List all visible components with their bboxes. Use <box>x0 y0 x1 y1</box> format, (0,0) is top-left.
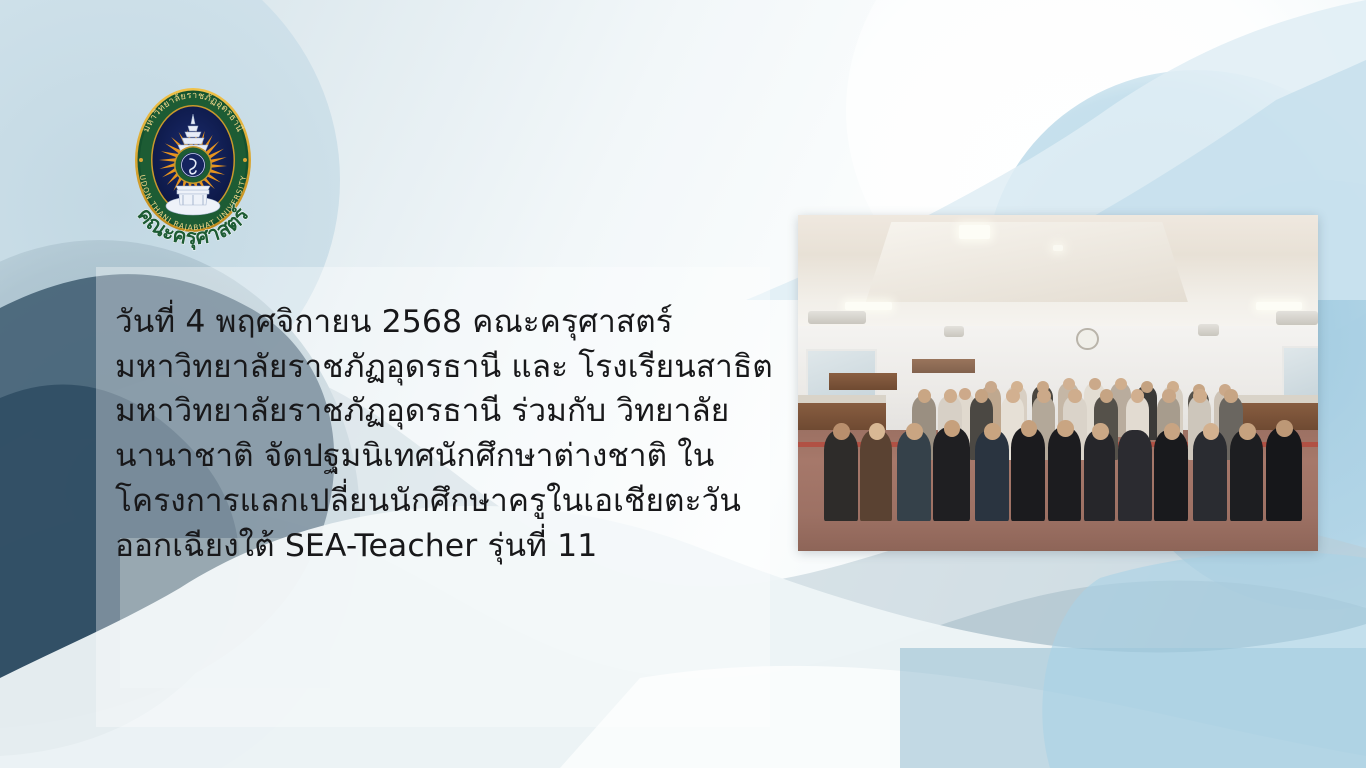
photo-desk-right-top <box>1235 395 1318 403</box>
photo-wall-fan-right <box>1198 324 1219 335</box>
photo-wall-clock <box>1076 328 1099 351</box>
photo-ceiling-light-3 <box>1256 302 1303 309</box>
university-logo: มหาวิทยาลัยราชภัฏอุดรธานี UDON THANI RAJ… <box>113 64 273 260</box>
group-photo <box>798 215 1318 551</box>
photo-desk-left-top <box>798 395 886 403</box>
photo-window-right <box>1282 346 1318 397</box>
photo-wall-fan-left <box>944 326 965 337</box>
announcement-text: วันที่ 4 พฤศจิกายน 2568 คณะครุศาสตร์ มหา… <box>115 300 785 568</box>
photo-ceiling-light-2 <box>845 302 892 309</box>
photo-desk-tier-3 <box>912 359 974 372</box>
photo-downlight <box>1053 245 1063 250</box>
photo-desk-tier-2 <box>829 373 897 390</box>
photo-ac-unit-right <box>1276 311 1318 325</box>
slide-canvas: มหาวิทยาลัยราชภัฏอุดรธานี UDON THANI RAJ… <box>0 0 1366 768</box>
photo-ceiling-coffer <box>866 222 1188 303</box>
photo-ac-unit-left <box>808 311 865 324</box>
photo-ceiling-light <box>959 225 990 238</box>
seal-graphic: มหาวิทยาลัยราชภัฏอุดรธานี UDON THANI RAJ… <box>113 64 273 260</box>
